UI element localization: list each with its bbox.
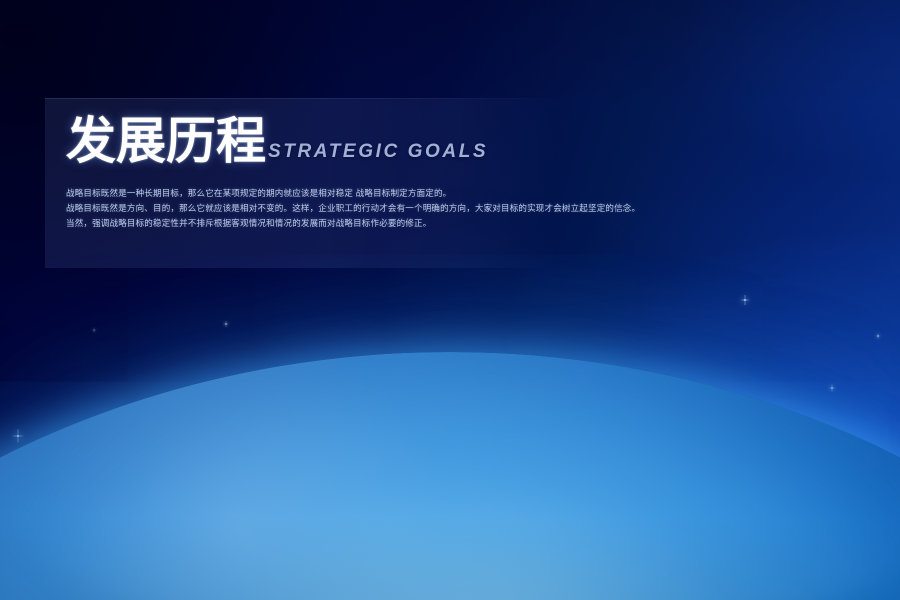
body-copy: 战略目标既然是一种长期目标，那么它在某项规定的期内就应该是相对稳定 战略目标制定… [66, 186, 666, 231]
page-subtitle: STRATEGIC GOALS [268, 142, 488, 162]
earth-sphere [0, 352, 900, 600]
body-line: 战略目标既然是一种长期目标，那么它在某项规定的期内就应该是相对稳定 战略目标制定… [66, 186, 666, 201]
page-title: 发展历程 [66, 114, 266, 168]
body-line: 战略目标既然是方向、目的，那么它就应该是相对不变的。这样，企业职工的行动才会有一… [66, 201, 666, 216]
banner-stage: 发展历程 STRATEGIC GOALS 战略目标既然是一种长期目标，那么它在某… [0, 0, 900, 600]
earth-globe [0, 352, 900, 600]
headline-group: 发展历程 STRATEGIC GOALS [66, 114, 488, 168]
body-line: 当然，强调战略目标的稳定性并不排斥根据客观情况和情况的发展而对战略目标作必要的修… [66, 216, 666, 231]
